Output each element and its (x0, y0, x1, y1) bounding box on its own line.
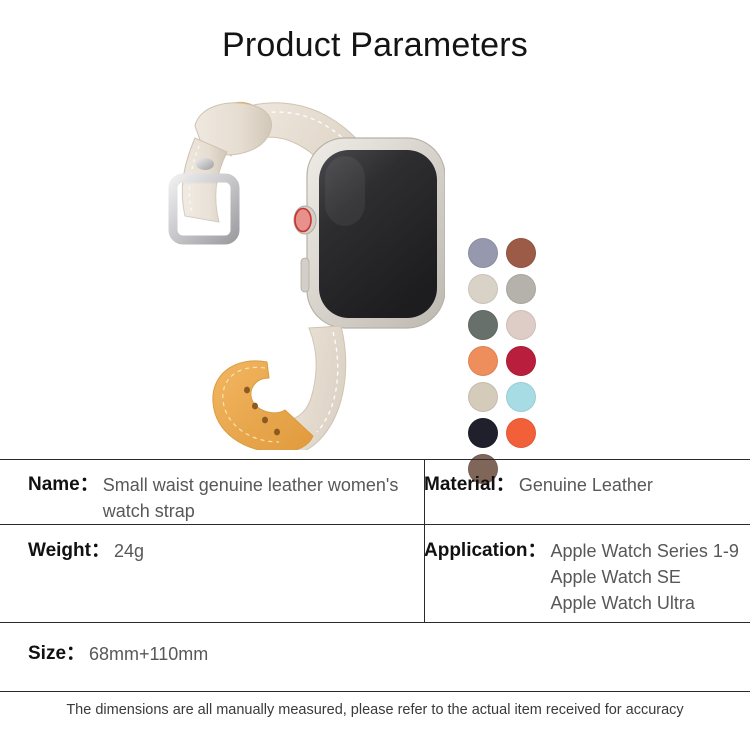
spec-cell-material: Material： Genuine Leather (424, 460, 750, 524)
swatch-crimson[interactable] (506, 346, 536, 376)
swatch-row (468, 238, 548, 268)
swatch-row (468, 310, 548, 340)
swatch-black-navy[interactable] (468, 418, 498, 448)
swatch-warm-gray[interactable] (506, 274, 536, 304)
spec-value-application-line1: Apple Watch Series 1-9 (550, 538, 738, 564)
spec-value-size: 68mm+110mm (85, 641, 208, 667)
spec-label-name: Name： (28, 472, 99, 498)
spec-value-name: Small waist genuine leather women's watc… (99, 472, 399, 524)
footer-disclaimer: The dimensions are all manually measured… (0, 702, 750, 718)
spec-label-material: Material： (424, 472, 515, 498)
spec-value-application: Apple Watch Series 1-9 Apple Watch SE Ap… (546, 538, 738, 616)
spec-row-name-material: Name： Small waist genuine leather women'… (0, 460, 750, 524)
apple-watch-with-leather-strap-image (155, 80, 445, 450)
watch-case (307, 138, 445, 328)
spec-row-weight-application: Weight： 24g Application： Apple Watch Ser… (0, 525, 750, 622)
spec-label-application: Application： (424, 538, 546, 564)
buckle (173, 158, 235, 240)
swatch-coral-orange[interactable] (506, 418, 536, 448)
swatch-orange[interactable] (468, 346, 498, 376)
strap-tail-lining (213, 361, 313, 450)
spec-label-weight: Weight： (28, 538, 110, 564)
spec-value-name-line2: watch strap (103, 498, 399, 524)
spec-table: Name： Small waist genuine leather women'… (0, 459, 750, 692)
product-image-area (0, 80, 750, 455)
spec-value-application-line3: Apple Watch Ultra (550, 590, 738, 616)
spec-value-material: Genuine Leather (515, 472, 653, 498)
swatch-row (468, 346, 548, 376)
swatch-light-beige[interactable] (468, 382, 498, 412)
spec-cell-weight: Weight： 24g (0, 525, 424, 622)
swatch-lavender-gray[interactable] (468, 238, 498, 268)
swatch-dusty-pink[interactable] (506, 310, 536, 340)
column-divider (424, 525, 425, 622)
spec-cell-size: Size： 68mm+110mm (0, 623, 424, 691)
swatch-row (468, 418, 548, 448)
column-divider (424, 460, 425, 524)
digital-crown (294, 206, 316, 234)
spec-value-weight: 24g (110, 538, 144, 564)
side-button (301, 258, 309, 292)
swatch-cream-beige[interactable] (468, 274, 498, 304)
swatch-row (468, 382, 548, 412)
swatch-dark-gray[interactable] (468, 310, 498, 340)
spec-row-size: Size： 68mm+110mm (0, 623, 750, 691)
spec-label-size: Size： (28, 641, 85, 667)
spec-value-application-line2: Apple Watch SE (550, 564, 738, 590)
swatch-brown[interactable] (506, 238, 536, 268)
swatch-light-blue[interactable] (506, 382, 536, 412)
spec-cell-application: Application： Apple Watch Series 1-9 Appl… (424, 525, 750, 622)
spec-value-name-line1: Small waist genuine leather women's (103, 472, 399, 498)
spec-cell-name: Name： Small waist genuine leather women'… (0, 460, 424, 524)
divider-bottom (0, 691, 750, 692)
color-swatch-grid[interactable] (468, 238, 548, 490)
swatch-row (468, 274, 548, 304)
page-title: Product Parameters (0, 26, 750, 65)
